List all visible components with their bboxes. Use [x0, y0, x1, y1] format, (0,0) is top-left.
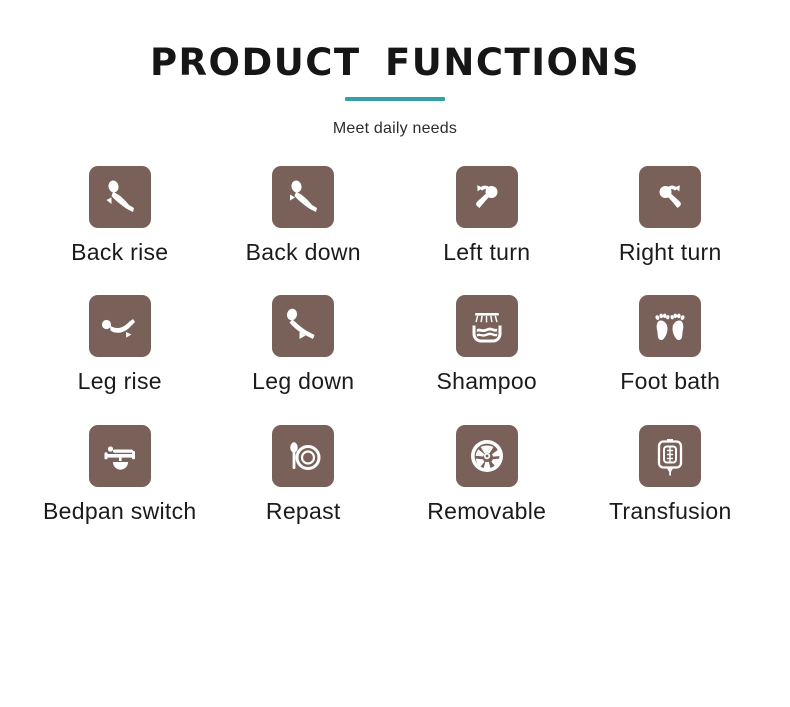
function-tile[interactable] [456, 295, 518, 357]
function-tile[interactable] [639, 295, 701, 357]
leg-rise-icon [98, 304, 142, 348]
function-item-back-down[interactable]: Back down [212, 166, 396, 265]
page-header: PRODUCT FUNCTIONS Meet daily needs [0, 0, 790, 138]
function-tile[interactable] [272, 295, 334, 357]
function-item-leg-rise[interactable]: Leg rise [28, 295, 212, 394]
function-grid: Back rise Back down [0, 166, 790, 524]
repast-icon [281, 434, 325, 478]
function-item-leg-down[interactable]: Leg down [212, 295, 396, 394]
title-divider-wrap [0, 97, 790, 102]
function-label: Back down [246, 239, 361, 265]
function-label: Leg down [252, 368, 354, 394]
function-label: Removable [427, 498, 546, 524]
function-item-shampoo[interactable]: Shampoo [395, 295, 579, 394]
bedpan-switch-icon [98, 434, 142, 478]
function-label: Back rise [71, 239, 168, 265]
function-item-removable[interactable]: Removable [395, 425, 579, 524]
iv-bag-icon [648, 434, 692, 478]
function-item-bedpan-switch[interactable]: Bedpan switch [28, 425, 212, 524]
function-item-transfusion[interactable]: Transfusion [579, 425, 763, 524]
function-tile[interactable] [456, 166, 518, 228]
function-label: Transfusion [609, 498, 732, 524]
function-tile[interactable] [272, 166, 334, 228]
left-turn-icon [465, 175, 509, 219]
page-title: PRODUCT FUNCTIONS [0, 44, 790, 83]
function-tile[interactable] [89, 295, 151, 357]
title-divider [345, 97, 445, 101]
function-tile[interactable] [272, 425, 334, 487]
function-item-foot-bath[interactable]: Foot bath [579, 295, 763, 394]
function-tile[interactable] [89, 166, 151, 228]
back-down-icon [281, 175, 325, 219]
leg-down-icon [281, 304, 325, 348]
wheel-icon [465, 434, 509, 478]
function-label: Repast [266, 498, 341, 524]
function-item-right-turn[interactable]: Right turn [579, 166, 763, 265]
function-label: Left turn [443, 239, 530, 265]
function-tile[interactable] [456, 425, 518, 487]
function-label: Right turn [619, 239, 722, 265]
function-item-left-turn[interactable]: Left turn [395, 166, 579, 265]
function-item-back-rise[interactable]: Back rise [28, 166, 212, 265]
right-turn-icon [648, 175, 692, 219]
function-label: Bedpan switch [43, 498, 197, 524]
function-label: Foot bath [620, 368, 720, 394]
function-tile[interactable] [89, 425, 151, 487]
back-rise-icon [98, 175, 142, 219]
page-subtitle: Meet daily needs [0, 120, 790, 138]
product-functions-page: PRODUCT FUNCTIONS Meet daily needs Back … [0, 0, 790, 707]
function-label: Leg rise [78, 368, 162, 394]
function-item-repast[interactable]: Repast [212, 425, 396, 524]
function-tile[interactable] [639, 425, 701, 487]
foot-bath-icon [648, 304, 692, 348]
shampoo-icon [465, 304, 509, 348]
function-label: Shampoo [436, 368, 537, 394]
function-tile[interactable] [639, 166, 701, 228]
